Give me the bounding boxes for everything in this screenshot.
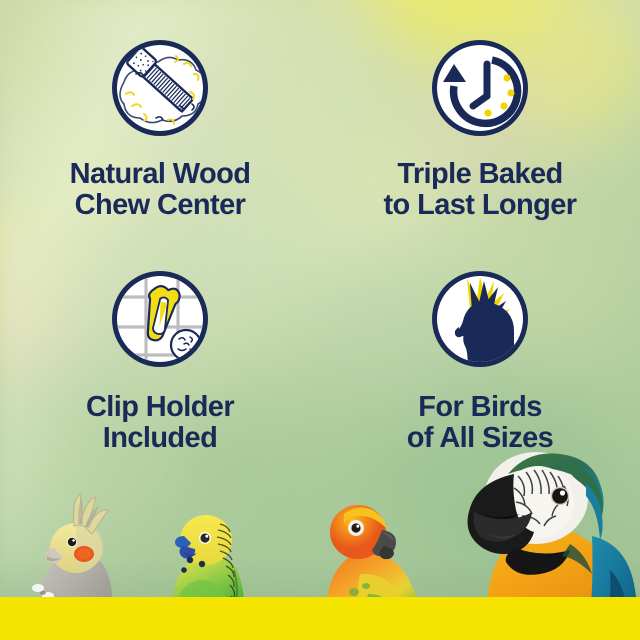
feature-for-birds-of-all-sizes: For Birds of All Sizes [320, 235, 640, 470]
feature-label: Natural Wood Chew Center [70, 159, 251, 221]
yellow-footer-bar [0, 597, 640, 640]
feature-clip-holder-included: Clip Holder Included [0, 235, 320, 470]
feature-panel: Natural Wood Chew Center [0, 0, 640, 640]
feature-triple-baked-to-last-longer: Triple Baked to Last Longer [320, 0, 640, 235]
feature-grid: Natural Wood Chew Center [0, 0, 640, 470]
clock-rotate-icon [426, 34, 534, 142]
cage-clip-icon [106, 265, 214, 373]
cockatoo-head-icon [426, 265, 534, 373]
wood-chew-stick-icon [106, 34, 214, 142]
bird-photo-strip [0, 440, 640, 640]
feature-label: Triple Baked to Last Longer [384, 159, 577, 221]
feature-natural-wood-chew-center: Natural Wood Chew Center [0, 0, 320, 235]
